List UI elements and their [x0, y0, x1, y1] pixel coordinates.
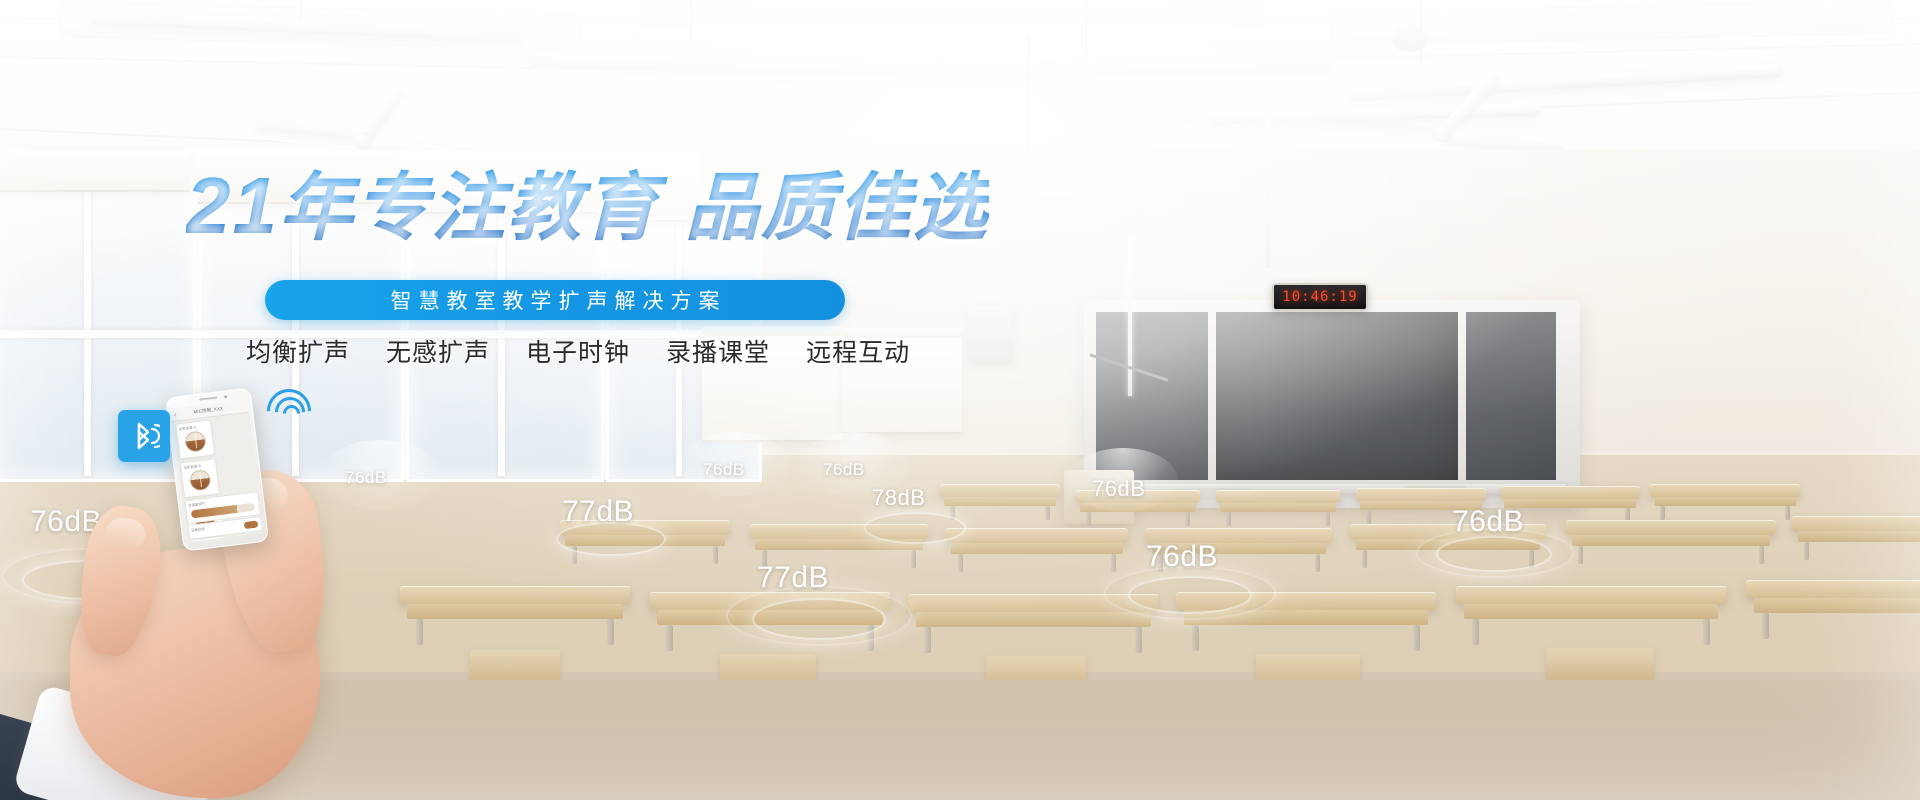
pendant-speaker [1000, 38, 1056, 168]
student-desk [1216, 490, 1340, 524]
feature-item: 录播课堂 [666, 333, 770, 369]
phone-control-card[interactable]: 主机音量 A [175, 419, 215, 459]
clock-time: 10:46:19 [1282, 289, 1357, 305]
student-desk [940, 484, 1060, 518]
db-label: 78dB [872, 485, 925, 511]
phone-slider-label: 总音量调节 [188, 500, 205, 507]
feature-list: 均衡扩声无感扩声电子时钟录播课堂远程互动 [246, 333, 910, 369]
chair [470, 650, 560, 684]
phone-card-label: 话筒音量 B [193, 540, 211, 542]
headline-part2: 品质佳选 [685, 166, 989, 249]
headline-number: 21 [186, 161, 279, 250]
phone-toggle-button[interactable] [244, 520, 259, 529]
db-label: 76dB [1092, 476, 1145, 502]
wifi-signal-icon [263, 385, 309, 431]
chair [1546, 648, 1654, 682]
db-label: 76dB [823, 460, 865, 480]
subtitle-pill: 智慧教室教学扩声解决方案 [265, 280, 845, 320]
phone-control-card[interactable]: 主机音量 B [180, 458, 220, 498]
db-label: 77dB [562, 495, 634, 529]
front-camera [224, 395, 227, 398]
volume-knob[interactable] [184, 430, 206, 452]
student-desk [1650, 484, 1800, 518]
volume-knob[interactable] [189, 468, 211, 490]
hero-banner: 76dB76dB77dB77dB76dB76dB78dB76dB76dB76dB… [0, 0, 1920, 800]
sound-ring [864, 512, 966, 544]
mic-stand [1128, 236, 1132, 396]
student-desk [1456, 586, 1726, 642]
student-desk [946, 528, 1128, 570]
feature-item: 远程互动 [806, 333, 910, 369]
digital-wall-clock: 10:46:19 [1272, 283, 1368, 311]
db-label: 76dB [1146, 540, 1218, 574]
headline-part1: 年专注教育 [279, 166, 659, 249]
interactive-display [1216, 312, 1458, 480]
page-title: 21年专注教育品质佳选 [186, 148, 989, 255]
ceiling-speaker [1392, 26, 1428, 56]
earpiece-speaker [199, 396, 217, 400]
window-shade [0, 150, 190, 192]
db-label: 77dB [757, 561, 829, 595]
blackboard-wing [1466, 312, 1556, 480]
student-desk [1566, 520, 1776, 562]
sound-ring [726, 586, 912, 646]
student-desk [1746, 580, 1920, 636]
student-desk [1792, 516, 1920, 558]
db-label: 76dB [703, 460, 745, 480]
phone-card-label: 主机音量 A [178, 424, 196, 431]
db-label: 76dB [1452, 505, 1524, 539]
phone-screen[interactable]: ‹ MIC控制_XXX 主机音量 A主机音量 B话筒音量 A话筒音量 B 总音量… [170, 400, 264, 543]
feature-item: 无感扩声 [386, 333, 490, 369]
sound-ring [1104, 566, 1276, 620]
mic-stand [1266, 118, 1270, 268]
subtitle-text: 智慧教室教学扩声解决方案 [384, 285, 727, 315]
bluetooth-icon [118, 410, 170, 462]
phone-card-label: 主机音量 B [183, 462, 201, 469]
phone-row-label: 设备状态 [191, 526, 205, 533]
feature-item: 电子时钟 [526, 333, 630, 369]
chevron-left-icon[interactable]: ‹ [174, 411, 177, 418]
wall-control-unit [968, 306, 1012, 364]
feature-item: 均衡扩声 [246, 333, 350, 369]
phone-app-title: MIC控制_XXX [193, 406, 223, 416]
